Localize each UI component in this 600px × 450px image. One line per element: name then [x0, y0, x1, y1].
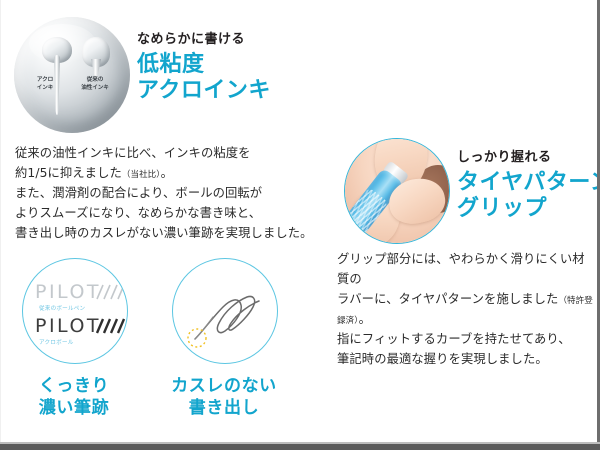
grip-body-line-2-main: ラバーに、タイヤパターンを施しました	[337, 292, 558, 306]
ink-heading-group: なめらかに書ける 低粘度 アクロインキ	[137, 33, 271, 103]
ink-headline-line2: アクロインキ	[137, 78, 271, 104]
ink-body-copy: 従来の油性インキに比べ、インキの粘度を 約1/5に抑えました（当社比）。 また、…	[15, 144, 315, 244]
conventional-drop-tail	[91, 59, 101, 79]
grip-body-line-3: 指にフィットするカーブを持たせてあり、	[337, 330, 595, 350]
ink-body-line-1: 従来の油性インキに比べ、インキの粘度を	[15, 144, 315, 164]
promo-page: アクロ インキ 従来の 油性インキ なめらかに書ける 低粘度 アクロインキ 従来…	[0, 0, 600, 450]
conventional-pen-label: 従来のボールペン	[39, 304, 85, 312]
grip-kicker: しっかり握れる	[457, 151, 600, 165]
ink-body-line-2-period: 。	[161, 166, 173, 180]
conventional-ink-drop-icon	[82, 37, 110, 81]
dark-trace-caption-line2: 濃い筆跡	[8, 397, 140, 419]
frame-edge-left	[0, 0, 1, 444]
grip-photo-circle	[344, 138, 450, 244]
grip-headline-line2: グリップ	[457, 196, 600, 222]
grip-body-line-2: ラバーに、タイヤパターンを施しました（特許登録済）。	[337, 290, 595, 330]
ink-body-line-5: 書き出し時のカスレがない濃い筆跡を実現しました。	[15, 224, 315, 244]
grip-heading-group: しっかり握れる タイヤパターン グリップ	[457, 151, 600, 221]
dark-trace-caption-line1: くっきり	[8, 375, 140, 397]
grip-body-copy: グリップ部分には、やわらかく滑りにくい材質の ラバーに、タイヤパターンを施しまし…	[337, 250, 595, 369]
cursive-scribble-trace	[173, 259, 277, 363]
acro-ink-drop-icon	[42, 37, 72, 115]
frame-edge-bottom	[0, 444, 600, 450]
grip-headline-line1: タイヤパターン	[457, 170, 600, 196]
hand-holding-pen-photo	[345, 139, 449, 243]
grip-body-line-1: グリップ部分には、やわらかく滑りにくい材質の	[337, 250, 595, 290]
faint-pilot-handwriting: PILOT	[35, 281, 101, 303]
grip-body-line-2-period: 。	[359, 312, 371, 326]
clean-start-caption: カスレのない 書き出し	[158, 375, 290, 419]
ink-kicker: なめらかに書ける	[137, 33, 271, 47]
ink-body-line-4: よりスムーズになり、なめらかな書き味と、	[15, 204, 315, 224]
clean-start-caption-line1: カスレのない	[158, 375, 290, 397]
conventional-ink-drop-label: 従来の 油性インキ	[74, 77, 116, 92]
bold-scribble-mark	[95, 317, 125, 335]
ink-viscosity-sphere-illustration: アクロ インキ 従来の 油性インキ	[14, 17, 130, 133]
ink-body-line-2: 約1/5に抑えました（当社比）。	[15, 164, 315, 184]
ink-body-line-3: また、潤滑剤の配合により、ボールの回転が	[15, 184, 315, 204]
acro-ball-label: アクロボール	[39, 338, 73, 346]
bold-pilot-handwriting: PILOT	[35, 315, 101, 337]
ink-headline-line1: 低粘度	[137, 52, 271, 78]
ink-body-line-2-main: 約1/5に抑えました	[15, 166, 122, 180]
clean-start-sample-circle	[172, 258, 278, 364]
ink-body-note: （当社比）	[122, 170, 161, 180]
faint-scribble-mark	[95, 283, 125, 301]
dark-trace-caption: くっきり 濃い筆跡	[8, 375, 140, 419]
acro-ink-drop-label: アクロ インキ	[30, 77, 60, 92]
dark-trace-sample-circle: PILOT 従来のボールペン PILOT アクロボール	[22, 258, 128, 364]
grip-body-line-4: 筆記時の最適な握りを実現しました。	[337, 350, 595, 370]
clean-start-caption-line2: 書き出し	[158, 397, 290, 419]
